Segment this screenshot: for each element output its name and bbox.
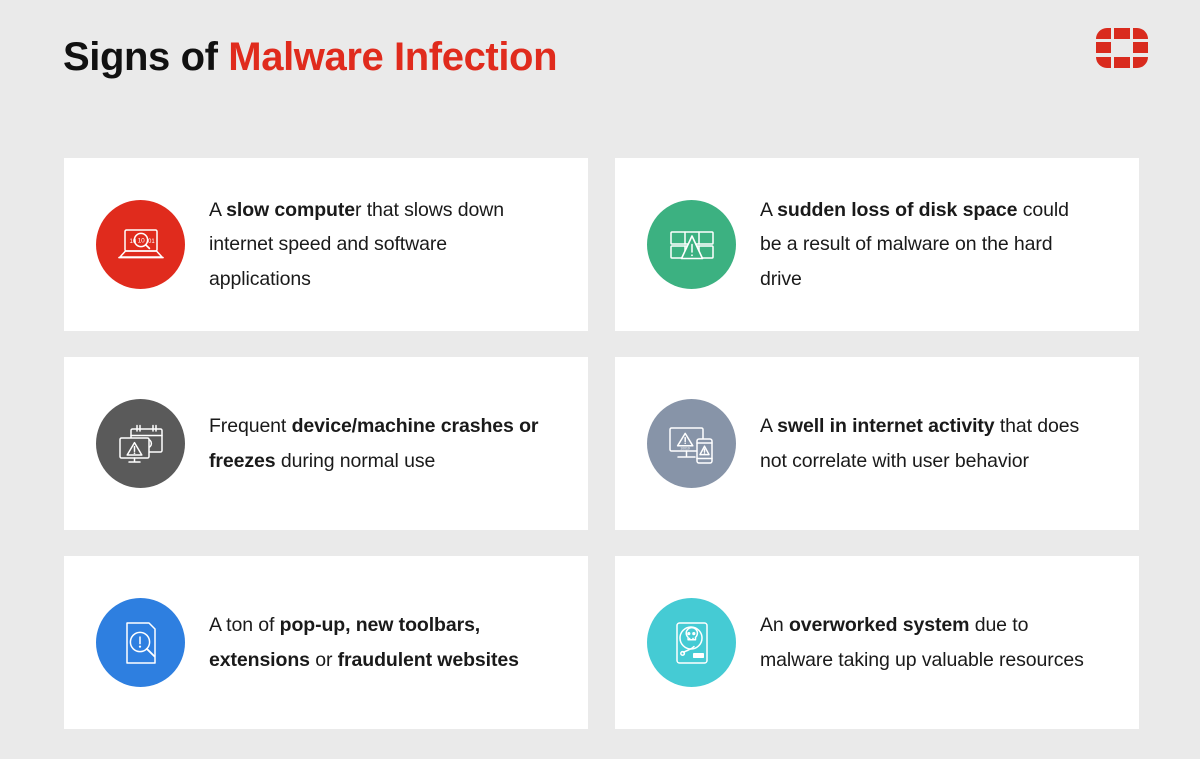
icon-badge: [647, 598, 736, 687]
page-title-accent: Malware Infection: [228, 35, 557, 79]
hard-drive-skull-icon: [672, 620, 712, 666]
page-title-plain: Signs of: [63, 35, 228, 79]
svg-text:10: 10: [137, 237, 145, 244]
monitor-phone-warning-icon: 10010: [667, 423, 717, 465]
brand-grid-logo-icon: [1096, 28, 1148, 68]
icon-badge: [96, 598, 185, 687]
card-crashes-freezes[interactable]: Frequent device/machine crashes or freez…: [64, 357, 588, 530]
page-header: Signs of Malware Infection: [0, 0, 1200, 124]
card-text: A swell in internet activity that does n…: [760, 409, 1090, 478]
card-disk-space-loss[interactable]: A sudden loss of disk space could be a r…: [615, 158, 1139, 331]
card-popups-toolbars[interactable]: A ton of pop-up, new toolbars, extension…: [64, 556, 588, 729]
card-overworked-system[interactable]: An overworked system due to malware taki…: [615, 556, 1139, 729]
card-text: A ton of pop-up, new toolbars, extension…: [209, 608, 539, 677]
icon-badge: [647, 200, 736, 289]
disk-blocks-warning-icon: [668, 225, 716, 265]
infographic-page: Signs of Malware Infection: [0, 0, 1200, 759]
svg-text:01: 01: [148, 239, 155, 245]
icon-badge: 10 01 10: [96, 200, 185, 289]
page-title: Signs of Malware Infection: [63, 30, 557, 84]
laptop-binary-magnifier-icon: 10 01 10: [116, 225, 166, 265]
monitor-calendar-warning-icon: [116, 422, 166, 466]
document-magnifier-alert-icon: [120, 620, 162, 666]
card-slow-computer[interactable]: 10 01 10 A slow computer that slows down…: [64, 158, 588, 331]
card-text: Frequent device/machine crashes or freez…: [209, 409, 539, 478]
card-internet-activity-swell[interactable]: 10010 A swell in internet activity that …: [615, 357, 1139, 530]
icon-badge: 10010: [647, 399, 736, 488]
svg-text:10010: 10010: [680, 446, 690, 450]
card-text: A sudden loss of disk space could be a r…: [760, 193, 1090, 297]
card-text: An overworked system due to malware taki…: [760, 608, 1090, 677]
signs-card-grid: 10 01 10 A slow computer that slows down…: [64, 158, 1139, 729]
icon-badge: [96, 399, 185, 488]
card-text: A slow computer that slows down internet…: [209, 193, 539, 297]
